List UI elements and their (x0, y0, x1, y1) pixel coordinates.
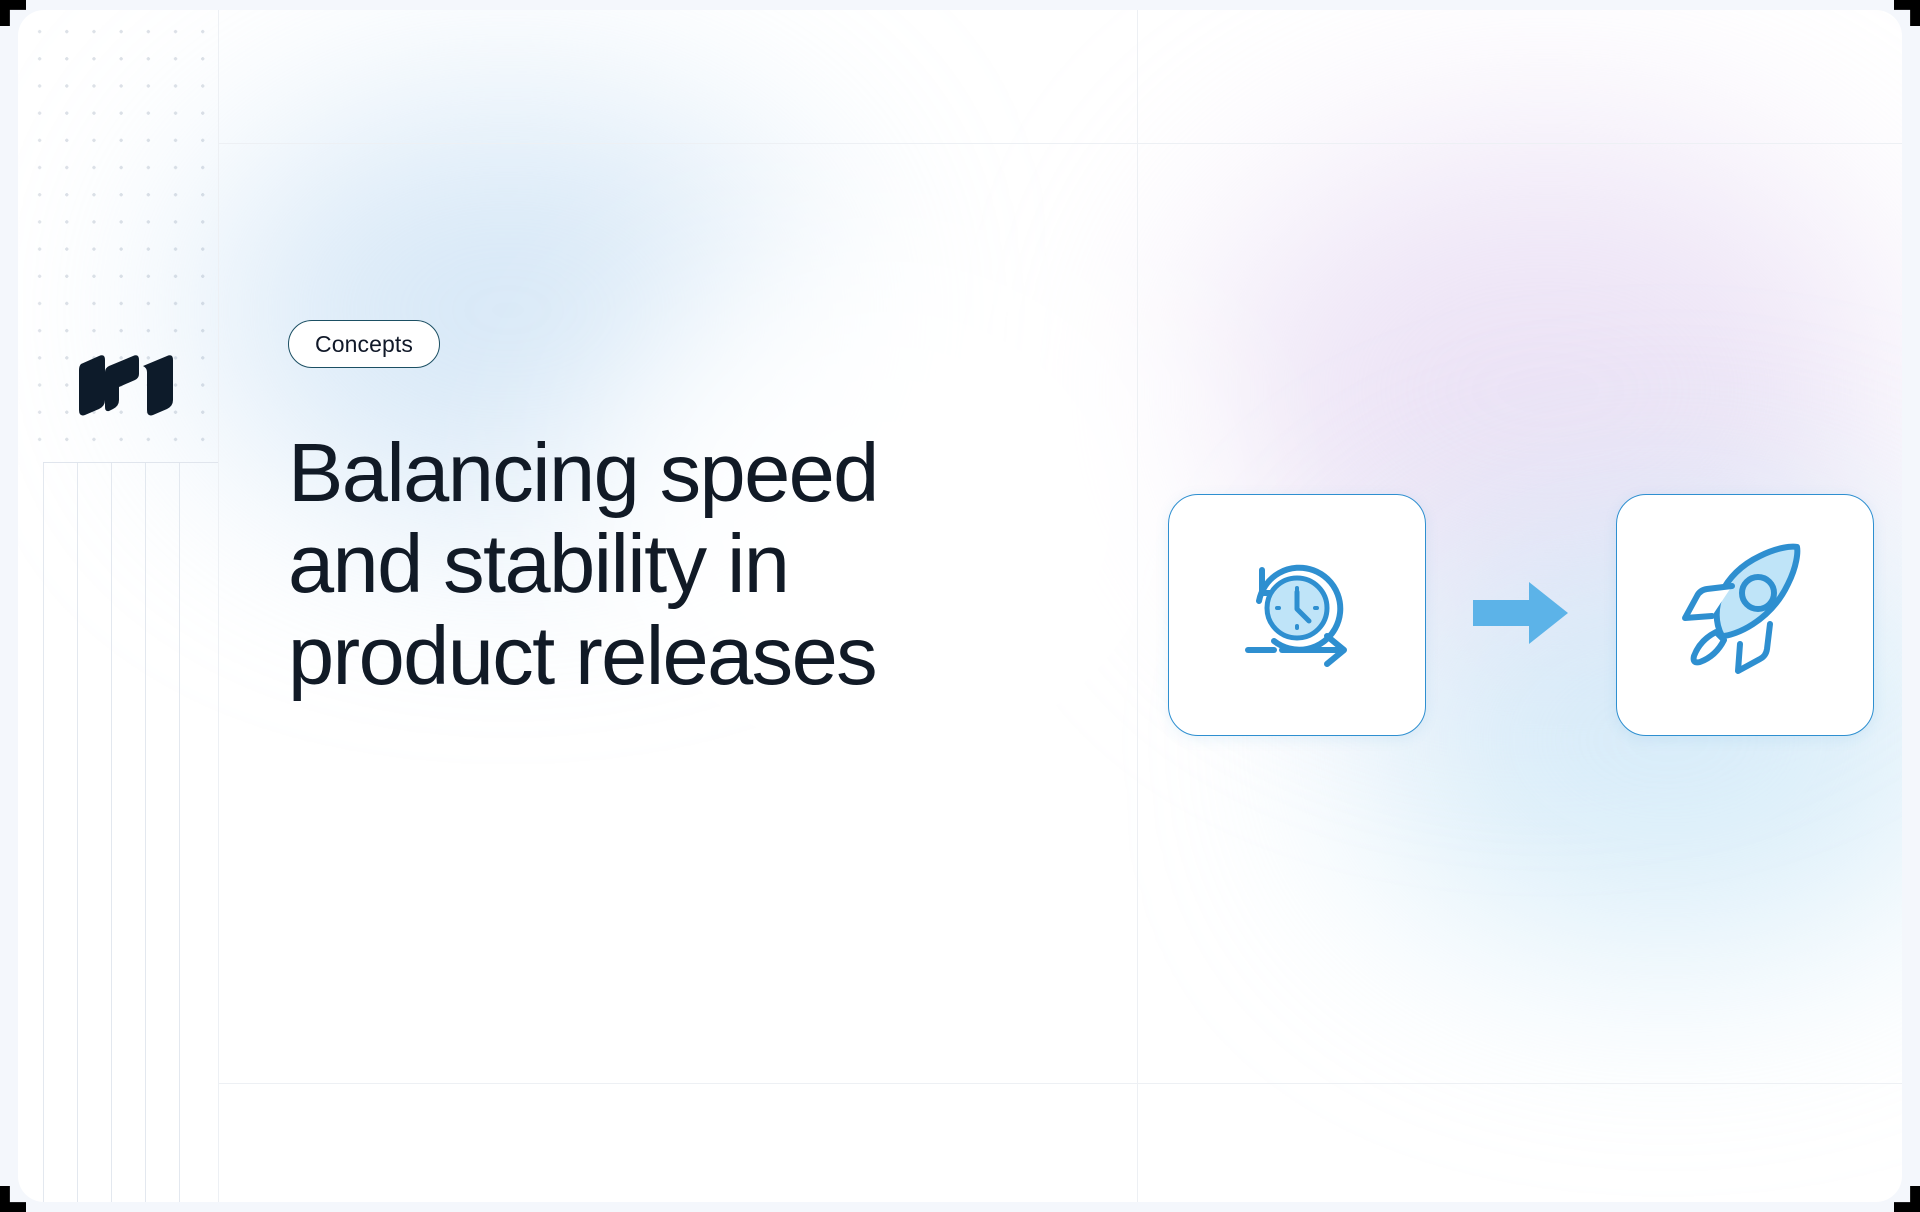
rocket-launch-icon (1660, 528, 1830, 703)
slide-canvas: Concepts Balancing speed and stability i… (0, 0, 1920, 1212)
page-title: Balancing speed and stability in product… (288, 427, 1008, 701)
hero-content: Concepts Balancing speed and stability i… (288, 320, 1018, 701)
arrow-right-icon (1471, 578, 1571, 653)
category-badge[interactable]: Concepts (288, 320, 440, 368)
guide-line-horizontal-bottom (218, 1083, 1902, 1084)
guide-line-vertical-left (218, 10, 219, 1202)
iteration-speed-card[interactable] (1168, 494, 1426, 736)
guide-line-horizontal-top (218, 143, 1902, 144)
decorative-left-rail (18, 10, 218, 1202)
transition-arrow (1466, 578, 1576, 653)
sprint-cycle-clock-icon (1212, 528, 1382, 703)
three-slanted-bars-logo-icon (75, 354, 187, 416)
concept-visual (1168, 480, 1868, 750)
release-launch-card[interactable] (1616, 494, 1874, 736)
guide-line-vertical-middle (1137, 10, 1138, 1202)
slide-card: Concepts Balancing speed and stability i… (18, 10, 1902, 1202)
rail-fade-overlay (18, 10, 218, 1202)
